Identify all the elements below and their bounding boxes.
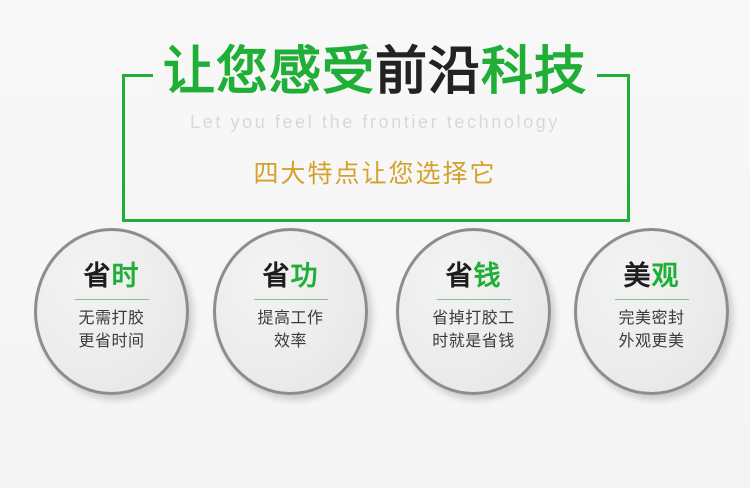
headline-text: 让您感受前沿科技 [153, 46, 597, 98]
feature-title: 省功 [263, 263, 319, 290]
feature-description-line: 省掉打胶工 [432, 308, 515, 331]
feature-title-green: 钱 [474, 261, 502, 291]
feature-description: 无需打胶 更省时间 [78, 308, 144, 353]
tagline-text: 四大特点让您选择它 [247, 154, 502, 190]
feature-description-line: 无需打胶 [78, 308, 144, 331]
subheadline: Let you feel the frontier technology [0, 112, 750, 133]
feature-description: 完美密封 外观更美 [618, 308, 684, 353]
headline-segment-1: 让您感受 [163, 43, 375, 101]
feature-divider [615, 299, 689, 300]
feature-description-line: 完美密封 [618, 308, 684, 331]
feature-divider [75, 299, 149, 300]
feature-title-dark: 省 [84, 261, 112, 291]
subheadline-text: Let you feel the frontier technology [190, 112, 560, 133]
feature-divider [437, 299, 511, 300]
tagline: 四大特点让您选择它 [0, 154, 750, 190]
feature-title: 省时 [84, 263, 140, 290]
feature-description-line: 提高工作 [257, 308, 323, 331]
feature-circle: 省功 提高工作 效率 [213, 228, 368, 395]
feature-title: 省钱 [446, 263, 502, 290]
feature-description: 提高工作 效率 [257, 308, 323, 353]
headline: 让您感受前沿科技 [0, 46, 750, 98]
feature-circle-list: 省时 无需打胶 更省时间 省功 提高工作 效率 省钱 省掉打胶工 时就是省钱 [0, 228, 750, 403]
feature-description-line: 更省时间 [78, 331, 144, 354]
feature-title-dark: 省 [446, 261, 474, 291]
feature-title: 美观 [624, 263, 680, 290]
banner-header: 让您感受前沿科技 Let you feel the frontier techn… [0, 46, 750, 186]
feature-title-green: 观 [652, 261, 680, 291]
feature-description: 省掉打胶工 时就是省钱 [432, 308, 515, 353]
feature-description-line: 时就是省钱 [432, 331, 515, 354]
feature-description-line: 效率 [257, 331, 323, 354]
promo-banner: 让您感受前沿科技 Let you feel the frontier techn… [0, 0, 750, 488]
feature-circle: 省钱 省掉打胶工 时就是省钱 [396, 228, 551, 395]
feature-title-dark: 省 [263, 261, 291, 291]
feature-divider [254, 299, 328, 300]
feature-title-dark: 美 [624, 261, 652, 291]
headline-segment-3: 科技 [481, 43, 587, 101]
headline-segment-2: 前沿 [375, 43, 481, 101]
feature-description-line: 外观更美 [618, 331, 684, 354]
feature-title-green: 时 [112, 261, 140, 291]
feature-circle: 省时 无需打胶 更省时间 [34, 228, 189, 395]
feature-circle: 美观 完美密封 外观更美 [574, 228, 729, 395]
feature-title-green: 功 [291, 261, 319, 291]
